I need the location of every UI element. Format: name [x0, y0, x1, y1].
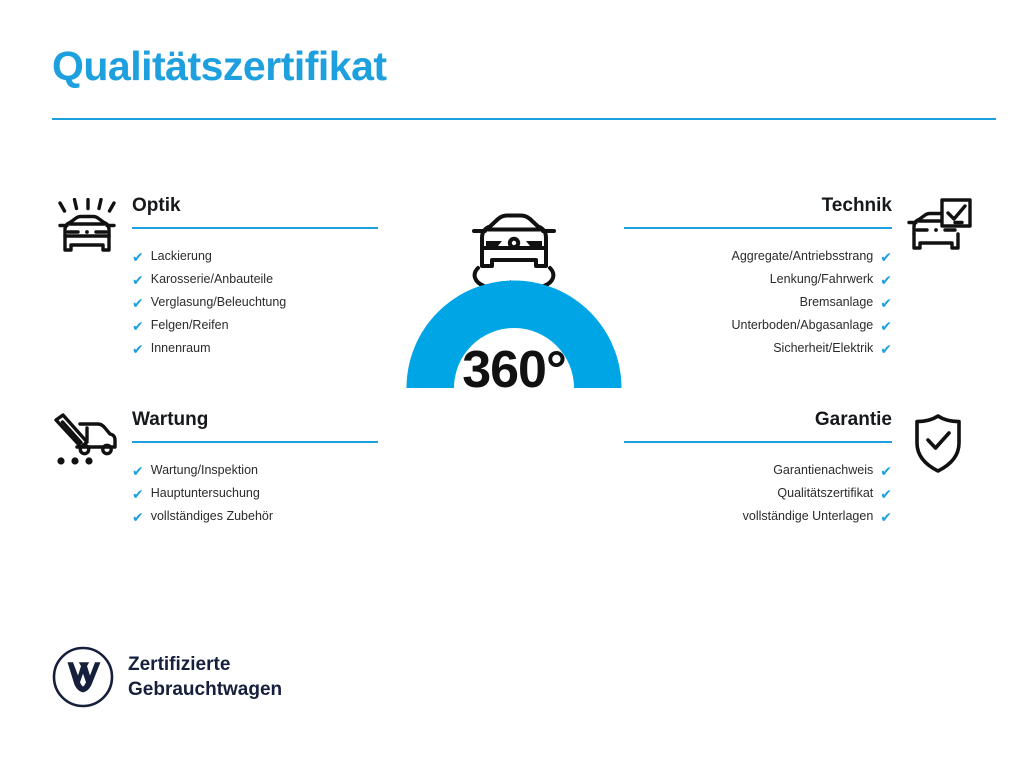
- check-icon: ✔: [880, 342, 892, 356]
- list-item-label: Bremsanlage: [800, 291, 874, 314]
- check-icon: ✔: [132, 296, 144, 310]
- list-item-label: Unterboden/Abgasanlage: [731, 314, 873, 337]
- check-icon: ✔: [880, 487, 892, 501]
- section-title-wartung: Wartung: [132, 410, 378, 441]
- checklist-garantie: Garantienachweis ✔ Qualitätszertifikat ✔…: [624, 443, 892, 528]
- list-item-label: Karosserie/Anbauteile: [151, 268, 273, 291]
- section-title-garantie: Garantie: [624, 410, 892, 441]
- page-title: Qualitätszertifikat: [52, 44, 996, 89]
- check-icon: ✔: [132, 319, 144, 333]
- list-item-label: Hauptuntersuchung: [151, 482, 260, 505]
- check-icon: ✔: [880, 319, 892, 333]
- brand-text: Zertifizierte Gebrauchtwagen: [128, 652, 282, 702]
- check-icon: ✔: [132, 250, 144, 264]
- check-icon: ✔: [880, 296, 892, 310]
- check-icon: ✔: [132, 464, 144, 478]
- brand-line-1: Zertifizierte: [128, 652, 282, 677]
- list-item-label: Qualitätszertifikat: [777, 482, 873, 505]
- list-item: Qualitätszertifikat ✔: [624, 482, 892, 505]
- list-item: Garantienachweis ✔: [624, 459, 892, 482]
- checklist-optik: ✔ Lackierung ✔ Karosserie/Anbauteile ✔ V…: [132, 229, 378, 360]
- list-item: ✔ Wartung/Inspektion: [132, 459, 378, 482]
- check-icon: ✔: [132, 273, 144, 287]
- list-item: Bremsanlage ✔: [624, 291, 892, 314]
- list-item: vollständige Unterlagen ✔: [624, 505, 892, 528]
- list-item-label: Felgen/Reifen: [151, 314, 229, 337]
- badge-value: 360°: [374, 344, 654, 396]
- check-icon: ✔: [880, 510, 892, 524]
- section-garantie-body: Garantie Garantienachweis ✔ Qualitätszer…: [624, 410, 892, 528]
- list-item: ✔ Innenraum: [132, 337, 378, 360]
- list-item-label: Aggregate/Antriebsstrang: [732, 245, 874, 268]
- list-item: Lenkung/Fahrwerk ✔: [624, 268, 892, 291]
- list-item: Sicherheit/Elektrik ✔: [624, 337, 892, 360]
- page-header: Qualitätszertifikat: [52, 44, 996, 120]
- brand-lockup: Zertifizierte Gebrauchtwagen: [52, 646, 282, 708]
- section-technik-body: Technik Aggregate/Antriebsstrang ✔ Lenku…: [624, 196, 892, 360]
- section-optik-body: Optik ✔ Lackierung ✔ Karosserie/Anbautei…: [132, 196, 378, 360]
- car-service-tools-icon: [48, 410, 124, 480]
- list-item: ✔ Felgen/Reifen: [132, 314, 378, 337]
- title-divider: [52, 118, 996, 120]
- badge-curved-label: Gebrauchtwagen-Check: [422, 397, 606, 481]
- check-icon: ✔: [132, 510, 144, 524]
- checklist-wartung: ✔ Wartung/Inspektion ✔ Hauptuntersuchung…: [132, 443, 378, 528]
- certificate-page: Qualitätszertifikat: [0, 0, 1024, 768]
- list-item-label: Sicherheit/Elektrik: [773, 337, 873, 360]
- list-item-label: vollständige Unterlagen: [743, 505, 874, 528]
- car-front-checkbox-icon: [900, 196, 976, 266]
- badge-360-gebrauchtwagen-check: Gebrauchtwagen-Check 360°: [374, 198, 654, 498]
- list-item: ✔ Lackierung: [132, 245, 378, 268]
- list-item-label: Verglasung/Beleuchtung: [151, 291, 287, 314]
- list-item-label: Wartung/Inspektion: [151, 459, 258, 482]
- check-icon: ✔: [880, 273, 892, 287]
- section-wartung: Wartung ✔ Wartung/Inspektion ✔ Hauptunte…: [48, 410, 428, 528]
- shield-check-icon: [900, 410, 976, 480]
- section-wartung-body: Wartung ✔ Wartung/Inspektion ✔ Hauptunte…: [132, 410, 378, 528]
- vw-logo-icon: [52, 646, 114, 708]
- list-item: ✔ vollständiges Zubehör: [132, 505, 378, 528]
- check-icon: ✔: [132, 487, 144, 501]
- list-item-label: vollständiges Zubehör: [151, 505, 273, 528]
- list-item: ✔ Karosserie/Anbauteile: [132, 268, 378, 291]
- list-item: ✔ Verglasung/Beleuchtung: [132, 291, 378, 314]
- check-icon: ✔: [880, 250, 892, 264]
- checklist-technik: Aggregate/Antriebsstrang ✔ Lenkung/Fahrw…: [624, 229, 892, 360]
- section-title-optik: Optik: [132, 196, 378, 227]
- list-item-label: Innenraum: [151, 337, 211, 360]
- section-title-technik: Technik: [624, 196, 892, 227]
- list-item-label: Lackierung: [151, 245, 212, 268]
- list-item-label: Lenkung/Fahrwerk: [770, 268, 874, 291]
- section-optik: Optik ✔ Lackierung ✔ Karosserie/Anbautei…: [48, 196, 428, 360]
- check-icon: ✔: [132, 342, 144, 356]
- list-item: ✔ Hauptuntersuchung: [132, 482, 378, 505]
- brand-line-2: Gebrauchtwagen: [128, 677, 282, 702]
- list-item-label: Garantienachweis: [773, 459, 873, 482]
- check-icon: ✔: [880, 464, 892, 478]
- car-front-shine-icon: [48, 196, 124, 266]
- list-item: Unterboden/Abgasanlage ✔: [624, 314, 892, 337]
- list-item: Aggregate/Antriebsstrang ✔: [624, 245, 892, 268]
